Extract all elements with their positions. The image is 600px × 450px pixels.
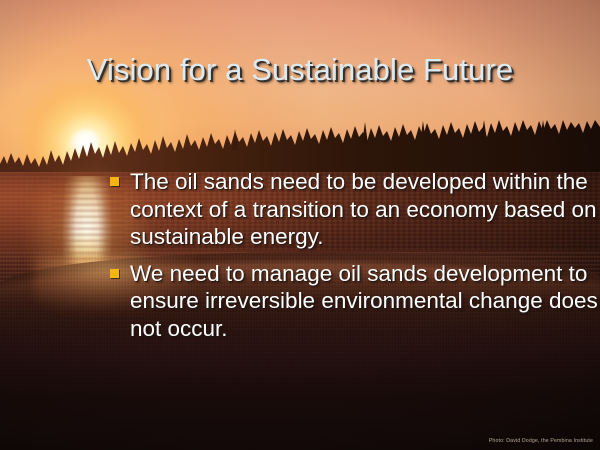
slide-title: Vision for a Sustainable Future: [0, 52, 600, 88]
presentation-slide: Vision for a Sustainable Future The oil …: [0, 0, 600, 450]
square-bullet-icon: [110, 269, 119, 278]
list-item: We need to manage oil sands development …: [110, 260, 600, 343]
square-bullet-icon: [110, 177, 119, 186]
bullet-text: We need to manage oil sands development …: [130, 260, 600, 343]
bullet-list: The oil sands need to be developed withi…: [110, 168, 600, 351]
photo-credit: Photo: David Dodge, the Pembina Institut…: [489, 438, 593, 444]
bullet-text: The oil sands need to be developed withi…: [130, 168, 600, 251]
list-item: The oil sands need to be developed withi…: [110, 168, 600, 251]
